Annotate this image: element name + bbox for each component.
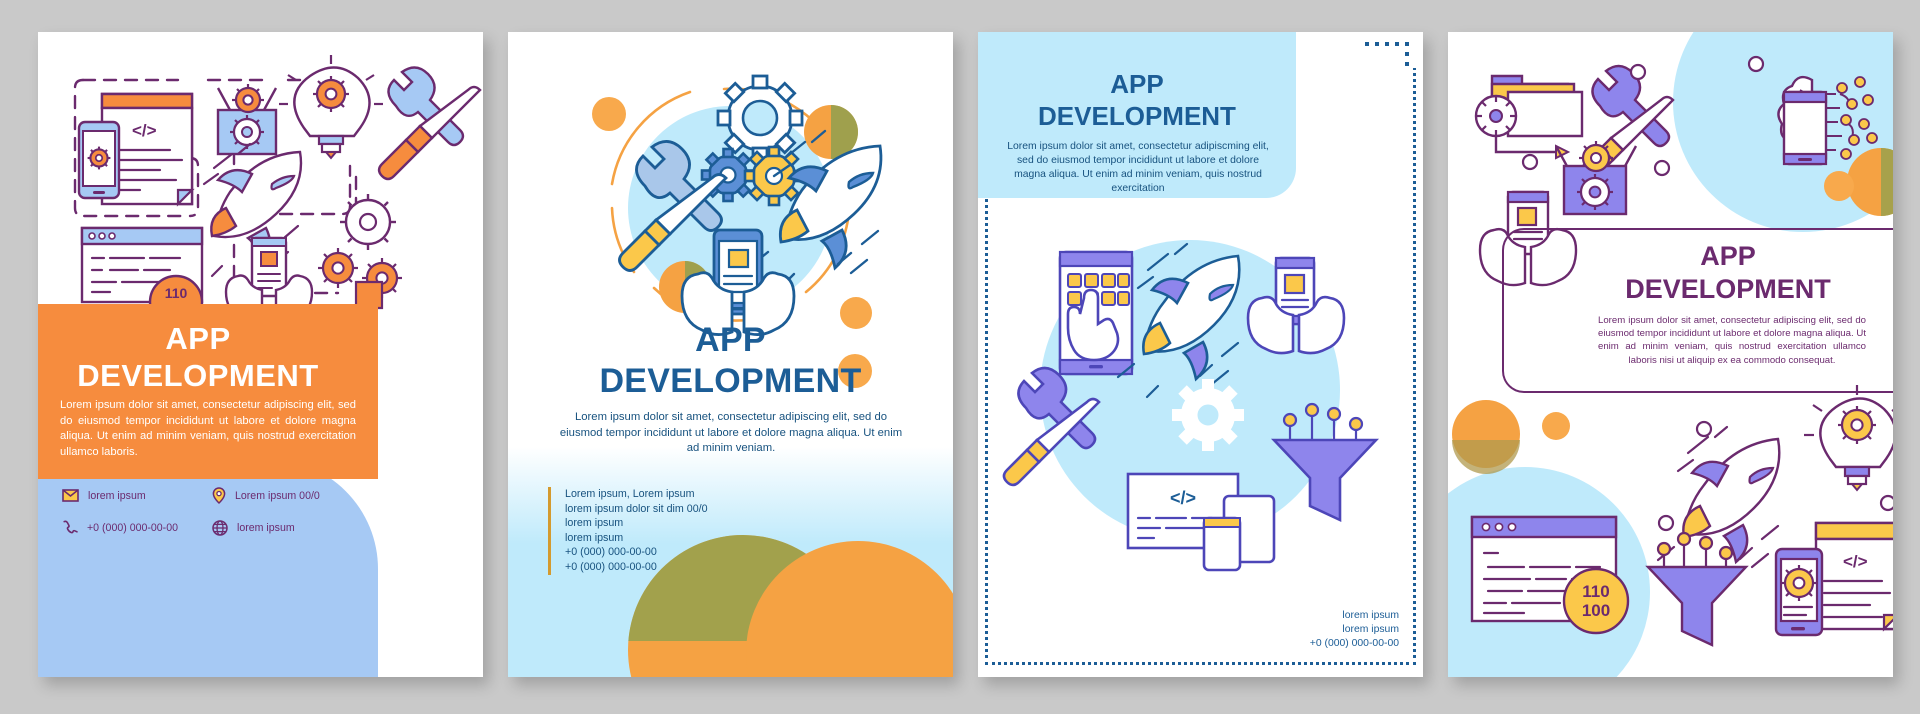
panel-3-footer: lorem ipsum lorem ipsum +0 (000) 000-00-…: [1310, 609, 1399, 651]
panel-2-body-text: Lorem ipsum dolor sit amet, consectetur …: [556, 410, 906, 457]
brochure-panel-2[interactable]: APP DEVELOPMENT Lorem ipsum dolor sit am…: [508, 32, 953, 677]
map-pin-icon: [212, 487, 226, 504]
footer-line: +0 (000) 000-00-00: [565, 560, 778, 575]
footer-line: +0 (000) 000-00-00: [565, 545, 778, 560]
contact-address[interactable]: Lorem ipsum 00/0: [212, 487, 362, 504]
gear-white-icon: [1172, 379, 1244, 451]
folder-gear-icon: [1476, 76, 1582, 158]
smartphone-gear-icon: [1776, 549, 1822, 635]
panel-1-title: APP DEVELOPMENT: [38, 320, 358, 394]
panel-4-title-line1: APP: [1588, 240, 1868, 273]
footer-line: lorem ipsum dolor sit dim 00/0: [565, 502, 778, 517]
rocket-icon: [1118, 244, 1239, 397]
wrench-screwdriver-icon: [1004, 368, 1099, 485]
panel-1-title-line1: APP: [38, 320, 358, 357]
contact-website-label: lorem ipsum: [237, 522, 295, 534]
panel-4-top-illustration: [1460, 46, 1893, 246]
panel-3-body-text: Lorem ipsum dolor sit amet, consectetur …: [1000, 140, 1276, 196]
panel-3-illustration: </>: [1018, 222, 1388, 552]
phone-icon: [62, 520, 78, 536]
lightbulb-gear-icon: [279, 55, 383, 158]
phone-tap-icon: [1060, 252, 1132, 374]
panel-4-bottom-illustration: 110 100: [1458, 371, 1893, 671]
panel-4-title: APP DEVELOPMENT: [1588, 240, 1868, 306]
footer-line: lorem ipsum: [1310, 623, 1399, 637]
contact-phone-label: +0 (000) 000-00-00: [87, 522, 178, 534]
hands-phone-icon: [1248, 258, 1344, 353]
panel-4-title-line2: DEVELOPMENT: [1588, 273, 1868, 306]
funnel-icon: [1274, 404, 1376, 520]
brochure-panel-3[interactable]: APP DEVELOPMENT Lorem ipsum dolor sit am…: [978, 32, 1423, 677]
smartphone-gear-icon: [79, 122, 119, 198]
box-gear-icon: [218, 84, 276, 154]
funnel-icon: [1648, 533, 1746, 645]
panel-2-footer: Lorem ipsum, Lorem ipsum lorem ipsum dol…: [548, 487, 778, 575]
contact-email-label: lorem ipsum: [88, 490, 146, 502]
footer-line: lorem ipsum: [1310, 609, 1399, 623]
footer-line: lorem ipsum: [565, 516, 778, 531]
panel-3-title-line1: APP: [978, 68, 1296, 100]
svg-text:</>: </>: [132, 121, 157, 140]
brochure-panel-4[interactable]: APP DEVELOPMENT Lorem ipsum dolor sit am…: [1448, 32, 1893, 677]
panel-1-contact-list: lorem ipsum Lorem ipsum 00/0 +0 (000) 00…: [62, 487, 362, 536]
badge-top-text: 110: [1582, 582, 1609, 601]
panel-3-title-line2: DEVELOPMENT: [978, 100, 1296, 132]
globe-icon: [212, 520, 228, 536]
phone-brain-icon: [1749, 57, 1877, 164]
wrench-screwdriver-icon: [379, 67, 480, 179]
panel-1-illustration: </>: [38, 32, 483, 312]
gear-large-icon: [718, 76, 802, 160]
panel-1-body-text: Lorem ipsum dolor sit amet, consectetur …: [60, 398, 356, 460]
brochure-stage: </>: [0, 0, 1920, 714]
contact-address-label: Lorem ipsum 00/0: [235, 490, 320, 502]
contact-email[interactable]: lorem ipsum: [62, 487, 212, 504]
panel-2-illustration: [552, 56, 912, 356]
badge-top-text: 110: [165, 285, 188, 301]
panel-4-body-text: Lorem ipsum dolor sit amet, consectetur …: [1598, 314, 1866, 367]
rocket-icon: [1658, 422, 1779, 580]
contact-phone[interactable]: +0 (000) 000-00-00: [62, 520, 212, 536]
panel-3-corner-dots: [1363, 40, 1417, 74]
brochure-panel-1[interactable]: </>: [38, 32, 483, 677]
panel-2-title-line2: DEVELOPMENT: [518, 361, 943, 402]
panel-3-title: APP DEVELOPMENT: [978, 68, 1296, 132]
panel-2-title-line1: APP: [518, 320, 943, 361]
panel-1-title-line2: DEVELOPMENT: [38, 357, 358, 394]
badge-bottom-text: 100: [1582, 601, 1610, 620]
code-window-icon: </>: [1816, 523, 1893, 629]
footer-line: +0 (000) 000-00-00: [1310, 637, 1399, 651]
binary-110-100-badge: 110 100: [1564, 569, 1628, 633]
contact-website[interactable]: lorem ipsum: [212, 520, 362, 536]
lightbulb-gear-icon: [1804, 385, 1893, 510]
footer-line: Lorem ipsum, Lorem ipsum: [565, 487, 778, 502]
svg-text:</>: </>: [1170, 488, 1196, 508]
envelope-icon: [62, 489, 79, 502]
svg-text:</>: </>: [1843, 552, 1868, 571]
dot-orange: [592, 97, 626, 131]
panel-2-title: APP DEVELOPMENT: [518, 320, 943, 402]
footer-line: lorem ipsum: [565, 531, 778, 546]
